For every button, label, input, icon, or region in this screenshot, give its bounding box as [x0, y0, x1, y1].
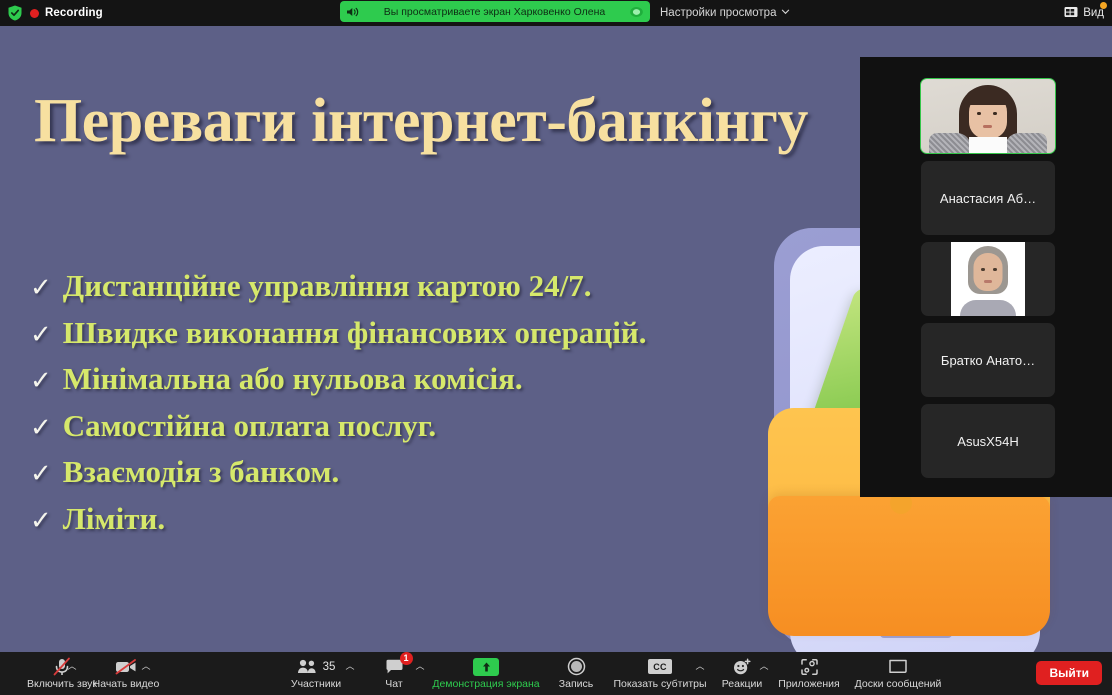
top-bar: Recording Вы просматриваете экран Харков… — [0, 0, 1112, 26]
slide-bullet-item: ✓ Швидке виконання фінансових операцій. — [30, 313, 790, 354]
view-settings-label: Настройки просмотра — [660, 7, 776, 19]
avatar-face — [974, 253, 1003, 291]
slide-bullet-item: ✓ Самостійна оплата послуг. — [30, 406, 790, 447]
apps-button[interactable]: Приложения — [770, 652, 848, 695]
chevron-down-icon — [781, 7, 790, 19]
record-label: Запись — [559, 678, 593, 690]
chevron-up-icon: ︿ — [345, 662, 354, 671]
participant-profile-photo — [951, 242, 1025, 316]
zoom-meeting-window: Recording Вы просматриваете экран Харков… — [0, 0, 1112, 695]
chevron-up-icon: ︿ — [141, 662, 150, 671]
view-layout-button[interactable]: Вид — [1064, 0, 1104, 26]
smiley-plus-icon — [732, 658, 752, 676]
whiteboards-label: Доски сообщений — [855, 678, 942, 690]
record-circle-icon — [567, 658, 586, 676]
leave-meeting-button[interactable]: Выйти — [1036, 661, 1102, 685]
self-video-feed — [921, 79, 1055, 153]
check-icon: ✓ — [30, 322, 52, 348]
start-video-button[interactable]: Начать видео — [78, 652, 174, 695]
avatar-eye-right — [993, 112, 997, 115]
slide-bullet-text: Мінімальна або нульова комісія. — [63, 359, 523, 400]
slide-title: Переваги інтернет-банкінгу — [34, 86, 808, 157]
participant-name-label: Братко Анато… — [941, 353, 1035, 368]
recording-indicator: Recording — [30, 0, 103, 26]
view-update-badge-icon — [1100, 2, 1107, 9]
avatar-mouth — [984, 280, 992, 283]
check-icon: ✓ — [30, 508, 52, 534]
slide-bullet-text: Самостійна оплата послуг. — [63, 406, 436, 447]
slide-bullet-text: Ліміти. — [63, 499, 165, 540]
recording-dot-icon — [30, 9, 39, 18]
video-options-caret[interactable]: ︿ — [134, 652, 158, 695]
participants-count: 35 — [323, 661, 336, 673]
slide-bullet-text: Дистанційне управління картою 24/7. — [63, 266, 592, 307]
share-screen-button[interactable]: Демонстрация экрана — [424, 652, 548, 695]
avatar-eye-right — [993, 268, 997, 271]
check-icon: ✓ — [30, 275, 52, 301]
chevron-up-icon: ︿ — [67, 662, 76, 671]
slide-bullet-text: Швидке виконання фінансових операцій. — [63, 313, 647, 354]
participants-options-caret[interactable]: ︿ — [338, 652, 362, 695]
recording-label: Recording — [45, 7, 103, 19]
check-icon: ✓ — [30, 368, 52, 394]
avatar-fringe — [965, 89, 1011, 105]
captions-options-caret[interactable]: ︿ — [688, 652, 712, 695]
avatar-shirt — [969, 137, 1007, 153]
avatar-mouth — [983, 125, 992, 128]
check-icon: ✓ — [30, 461, 52, 487]
avatar-eye-left — [981, 268, 985, 271]
share-screen-up-arrow-icon — [473, 658, 499, 676]
meeting-toolbar: Включить звук ︿ Начать видео ︿ — [0, 652, 1112, 695]
chat-bubble-icon: 1 — [385, 658, 404, 676]
whiteboard-icon — [888, 658, 908, 676]
participant-tile-asusx54h[interactable]: AsusX54H — [921, 404, 1055, 478]
speaker-icon — [346, 6, 360, 18]
people-icon: 35 — [297, 658, 336, 676]
chat-label: Чат — [385, 678, 402, 690]
screen-share-banner: Вы просматриваете экран Харковенко Олена — [340, 1, 650, 22]
participant-tile-video-self[interactable] — [921, 79, 1055, 153]
security-shield-icon[interactable] — [6, 4, 24, 22]
slide-bullet-item: ✓ Взаємодія з банком. — [30, 452, 790, 493]
participant-name-label: Анастасия Аб… — [940, 191, 1036, 206]
pause-share-icon[interactable] — [629, 5, 644, 19]
participant-tile-anastasia[interactable]: Анастасия Аб… — [921, 161, 1055, 235]
grid-layout-icon — [1064, 6, 1078, 21]
participants-filmstrip: Анастасия Аб… Братко Анато… AsusX54H — [860, 57, 1112, 497]
participant-tile-photo[interactable] — [921, 242, 1055, 316]
participant-tile-bratko[interactable]: Братко Анато… — [921, 323, 1055, 397]
share-screen-label: Демонстрация экрана — [432, 678, 539, 690]
participants-label: Участники — [291, 678, 341, 690]
chevron-up-icon: ︿ — [695, 662, 704, 671]
slide-bullet-list: ✓ Дистанційне управління картою 24/7. ✓ … — [30, 266, 790, 546]
whiteboards-button[interactable]: Доски сообщений — [848, 652, 948, 695]
record-button[interactable]: Запись — [548, 652, 604, 695]
slide-bullet-item: ✓ Ліміти. — [30, 499, 790, 540]
view-settings-menu[interactable]: Настройки просмотра — [660, 0, 790, 26]
check-icon: ✓ — [30, 415, 52, 441]
slide-bullet-item: ✓ Дистанційне управління картою 24/7. — [30, 266, 790, 307]
participant-name-label: AsusX54H — [957, 434, 1018, 449]
apps-icon — [800, 658, 819, 676]
screen-share-banner-text: Вы просматриваете экран Харковенко Олена — [360, 6, 629, 18]
avatar-eye-left — [977, 112, 981, 115]
apps-label: Приложения — [778, 678, 839, 690]
cc-icon: CC — [648, 658, 672, 676]
view-button-label: Вид — [1083, 7, 1104, 19]
avatar-jacket-right — [1005, 133, 1047, 153]
avatar-body — [960, 300, 1016, 316]
avatar-jacket-left — [929, 133, 971, 153]
wallet-front-shape — [768, 496, 1050, 636]
slide-bullet-item: ✓ Мінімальна або нульова комісія. — [30, 359, 790, 400]
slide-bullet-text: Взаємодія з банком. — [63, 452, 339, 493]
chevron-up-icon: ︿ — [759, 662, 768, 671]
